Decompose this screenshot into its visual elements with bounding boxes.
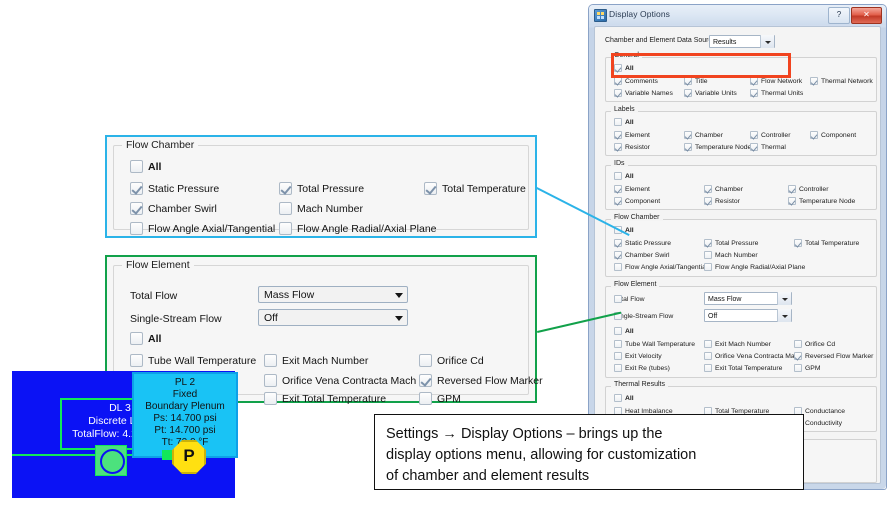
checkbox-labels-component[interactable]: Component bbox=[810, 131, 856, 140]
label-single-stream-flow: Single-Stream Flow bbox=[130, 313, 222, 325]
checkbox-labels-element[interactable]: Element bbox=[614, 131, 650, 140]
application-icon bbox=[594, 9, 607, 22]
checkbox-ids-element[interactable]: Element bbox=[614, 185, 650, 194]
checkbox-labels-controller[interactable]: Controller bbox=[750, 131, 790, 140]
checkbox-flow-element-reversed-flow-marker[interactable]: Reversed Flow Marker bbox=[794, 352, 873, 361]
connector-node-icon bbox=[162, 450, 173, 460]
checkbox-labels-chamber[interactable]: Chamber bbox=[684, 131, 723, 140]
callout-flow-chamber-title: Flow Chamber bbox=[122, 139, 198, 151]
checkbox-orifice-cd[interactable]: Orifice Cd bbox=[419, 354, 484, 368]
group-thermal-results-title: Thermal Results bbox=[611, 381, 668, 388]
checkbox-exit-mach-number[interactable]: Exit Mach Number bbox=[264, 354, 368, 368]
checkbox-all[interactable]: All bbox=[130, 160, 161, 174]
caption-box: Settings → Display Options – brings up t… bbox=[374, 414, 804, 490]
group-ids-title: IDs bbox=[611, 160, 628, 167]
checkbox-flow-chamber-mach-number[interactable]: Mach Number bbox=[704, 251, 758, 260]
close-button[interactable]: ✕ bbox=[851, 7, 882, 24]
checkbox-flow-element-exit-velocity[interactable]: Exit Velocity bbox=[614, 352, 662, 361]
flow-network-schematic: DL 3 Discrete Loss TotalFlow: 4.235 lb/s… bbox=[12, 371, 235, 498]
plenum-state: Fixed bbox=[173, 389, 197, 400]
data-source-row: Chamber and Element Data Source Results bbox=[605, 35, 875, 49]
data-source-value: Results bbox=[713, 39, 736, 46]
data-source-label: Chamber and Element Data Source bbox=[605, 37, 716, 44]
checkbox-labels-temperature-node[interactable]: Temperature Node bbox=[684, 143, 751, 152]
checkbox-general-thermal-units[interactable]: Thermal Units bbox=[750, 89, 803, 98]
chevron-down-icon bbox=[395, 293, 403, 298]
chevron-down-icon bbox=[395, 316, 403, 321]
checkbox-flow-element-exit-mach-number[interactable]: Exit Mach Number bbox=[704, 340, 771, 349]
checkbox-reversed-flow-marker[interactable]: Reversed Flow Marker bbox=[419, 374, 543, 388]
checkbox-flow-chamber-chamber-swirl[interactable]: Chamber Swirl bbox=[614, 251, 670, 260]
select-single-stream-flow-value: Off bbox=[264, 312, 278, 324]
checkbox-flow-element-orifice-cd[interactable]: Orifice Cd bbox=[794, 340, 835, 349]
checkbox-total-pressure[interactable]: Total Pressure bbox=[279, 182, 364, 196]
checkbox-flow-element-exit-total-temperature[interactable]: Exit Total Temperature bbox=[704, 364, 782, 373]
checkbox-thermal-all[interactable]: All bbox=[614, 394, 634, 403]
dialog-title: Display Options bbox=[609, 9, 670, 19]
chevron-down-icon bbox=[777, 309, 791, 322]
checkbox-flow-chamber-static-pressure[interactable]: Static Pressure bbox=[614, 239, 671, 248]
checkbox-ids-controller[interactable]: Controller bbox=[788, 185, 828, 194]
circle-icon bbox=[100, 449, 125, 474]
checkbox-general-thermal-network[interactable]: Thermal Network bbox=[810, 77, 873, 86]
callout-flow-element-title: Flow Element bbox=[122, 259, 194, 271]
checkbox-flow-chamber-flow-angle-axial-tangential[interactable]: Flow Angle Axial/Tangential bbox=[614, 263, 707, 272]
checkbox-chamber-swirl[interactable]: Chamber Swirl bbox=[130, 202, 217, 216]
checkbox-flow-element-exit-re-tubes[interactable]: Exit Re (tubes) bbox=[614, 364, 670, 373]
group-labels-title: Labels bbox=[611, 106, 638, 113]
checkbox-ids-chamber[interactable]: Chamber bbox=[704, 185, 743, 194]
checkbox-general-variable-units[interactable]: Variable Units bbox=[684, 89, 737, 98]
checkbox-flow-element-all[interactable]: All bbox=[614, 327, 634, 336]
chevron-down-icon bbox=[760, 35, 774, 48]
checkbox-ids-temperature-node[interactable]: Temperature Node bbox=[788, 197, 855, 206]
checkbox-general-variable-names[interactable]: Variable Names bbox=[614, 89, 673, 98]
group-flow-chamber-title: Flow Chamber bbox=[611, 214, 663, 221]
plenum-id: PL 2 bbox=[175, 377, 195, 388]
label-single-stream-flow: Single-Stream Flow bbox=[614, 312, 673, 321]
checkbox-flow-element-gpm[interactable]: GPM bbox=[794, 364, 820, 373]
plenum-type: Boundary Plenum bbox=[145, 401, 225, 412]
select-total-flow[interactable]: Mass Flow bbox=[704, 292, 792, 305]
checkbox-flow-element-tube-wall-temperature[interactable]: Tube Wall Temperature bbox=[614, 340, 695, 349]
data-source-select[interactable]: Results bbox=[709, 35, 775, 48]
checkbox-labels-thermal[interactable]: Thermal bbox=[750, 143, 786, 152]
group-ids: IDs All Element Chamber Controller Compo… bbox=[605, 165, 877, 210]
checkbox-flow-angle-axial-tangential[interactable]: Flow Angle Axial/Tangential bbox=[130, 222, 275, 236]
checkbox-flow-chamber-flow-angle-radial-axial[interactable]: Flow Angle Radial/Axial Plane bbox=[704, 263, 805, 272]
checkbox-flow-chamber-total-temperature[interactable]: Total Temperature bbox=[794, 239, 859, 248]
checkbox-flow-element-orifice-vena-contracta-mach[interactable]: Orifice Vena Contracta Mach bbox=[704, 352, 802, 361]
checkbox-ids-all[interactable]: All bbox=[614, 172, 634, 181]
plenum-text: PL 2 Fixed Boundary Plenum Ps: 14.700 ps… bbox=[134, 377, 236, 449]
checkbox-gpm[interactable]: GPM bbox=[419, 392, 461, 406]
select-total-flow[interactable]: Mass Flow bbox=[258, 286, 408, 303]
caption-line-3: of chamber and element results bbox=[386, 466, 792, 487]
checkbox-static-pressure[interactable]: Static Pressure bbox=[130, 182, 219, 196]
checkbox-labels-all[interactable]: All bbox=[614, 118, 634, 127]
dialog-titlebar[interactable]: Display Options ? ✕ bbox=[589, 5, 886, 25]
checkbox-all[interactable]: All bbox=[130, 332, 161, 346]
chevron-down-icon bbox=[777, 292, 791, 305]
checkbox-ids-resistor[interactable]: Resistor bbox=[704, 197, 740, 206]
select-single-stream-flow-value: Off bbox=[708, 313, 717, 320]
checkbox-flow-chamber-total-pressure[interactable]: Total Pressure bbox=[704, 239, 758, 248]
label-total-flow: Total Flow bbox=[614, 295, 645, 304]
group-flow-element: Flow Element Total Flow Single-Stream Fl… bbox=[605, 286, 877, 378]
checkbox-exit-total-temperature[interactable]: Exit Total Temperature bbox=[264, 392, 386, 406]
checkbox-general-flow-network[interactable]: Flow Network bbox=[750, 77, 802, 86]
callout-flow-chamber: Flow Chamber All Static Pressure Total P… bbox=[105, 135, 537, 238]
group-labels: Labels All Element Chamber Controller Co… bbox=[605, 111, 877, 156]
discrete-loss-symbol[interactable] bbox=[95, 445, 127, 476]
plenum-pt: Pt: 14.700 psi bbox=[154, 425, 215, 436]
checkbox-total-temperature[interactable]: Total Temperature bbox=[424, 182, 526, 196]
group-flow-element-title: Flow Element bbox=[611, 281, 659, 288]
checkbox-tube-wall-temperature[interactable]: Tube Wall Temperature bbox=[130, 354, 256, 368]
plenum-symbol[interactable]: P bbox=[172, 440, 206, 474]
plenum-ps: Ps: 14.700 psi bbox=[153, 413, 216, 424]
highlight-rectangle-general-all bbox=[611, 53, 791, 78]
caption-line-2: display options menu, allowing for custo… bbox=[386, 445, 792, 466]
discrete-loss-id: DL 3 bbox=[109, 402, 131, 414]
select-total-flow-value: Mass Flow bbox=[264, 289, 314, 301]
caption-line-1: Settings → Display Options – brings up t… bbox=[386, 424, 792, 445]
checkbox-orifice-vena-contracta-mach[interactable]: Orifice Vena Contracta Mach bbox=[264, 374, 416, 388]
checkbox-mach-number[interactable]: Mach Number bbox=[279, 202, 363, 216]
checkbox-general-comments[interactable]: Comments bbox=[614, 77, 658, 86]
select-total-flow-value: Mass Flow bbox=[708, 296, 741, 303]
checkbox-ids-component[interactable]: Component bbox=[614, 197, 660, 206]
checkbox-labels-resistor[interactable]: Resistor bbox=[614, 143, 650, 152]
help-button[interactable]: ? bbox=[828, 7, 850, 24]
select-single-stream-flow[interactable]: Off bbox=[258, 309, 408, 326]
group-flow-chamber: Flow Chamber All Static Pressure Total P… bbox=[605, 219, 877, 277]
checkbox-general-title[interactable]: Title bbox=[684, 77, 708, 86]
label-total-flow: Total Flow bbox=[130, 290, 177, 302]
select-single-stream-flow[interactable]: Off bbox=[704, 309, 792, 322]
callout-flow-chamber-box: Flow Chamber All Static Pressure Total P… bbox=[113, 145, 529, 230]
checkbox-flow-angle-radial-axial-plane[interactable]: Flow Angle Radial/Axial Plane bbox=[279, 222, 437, 236]
